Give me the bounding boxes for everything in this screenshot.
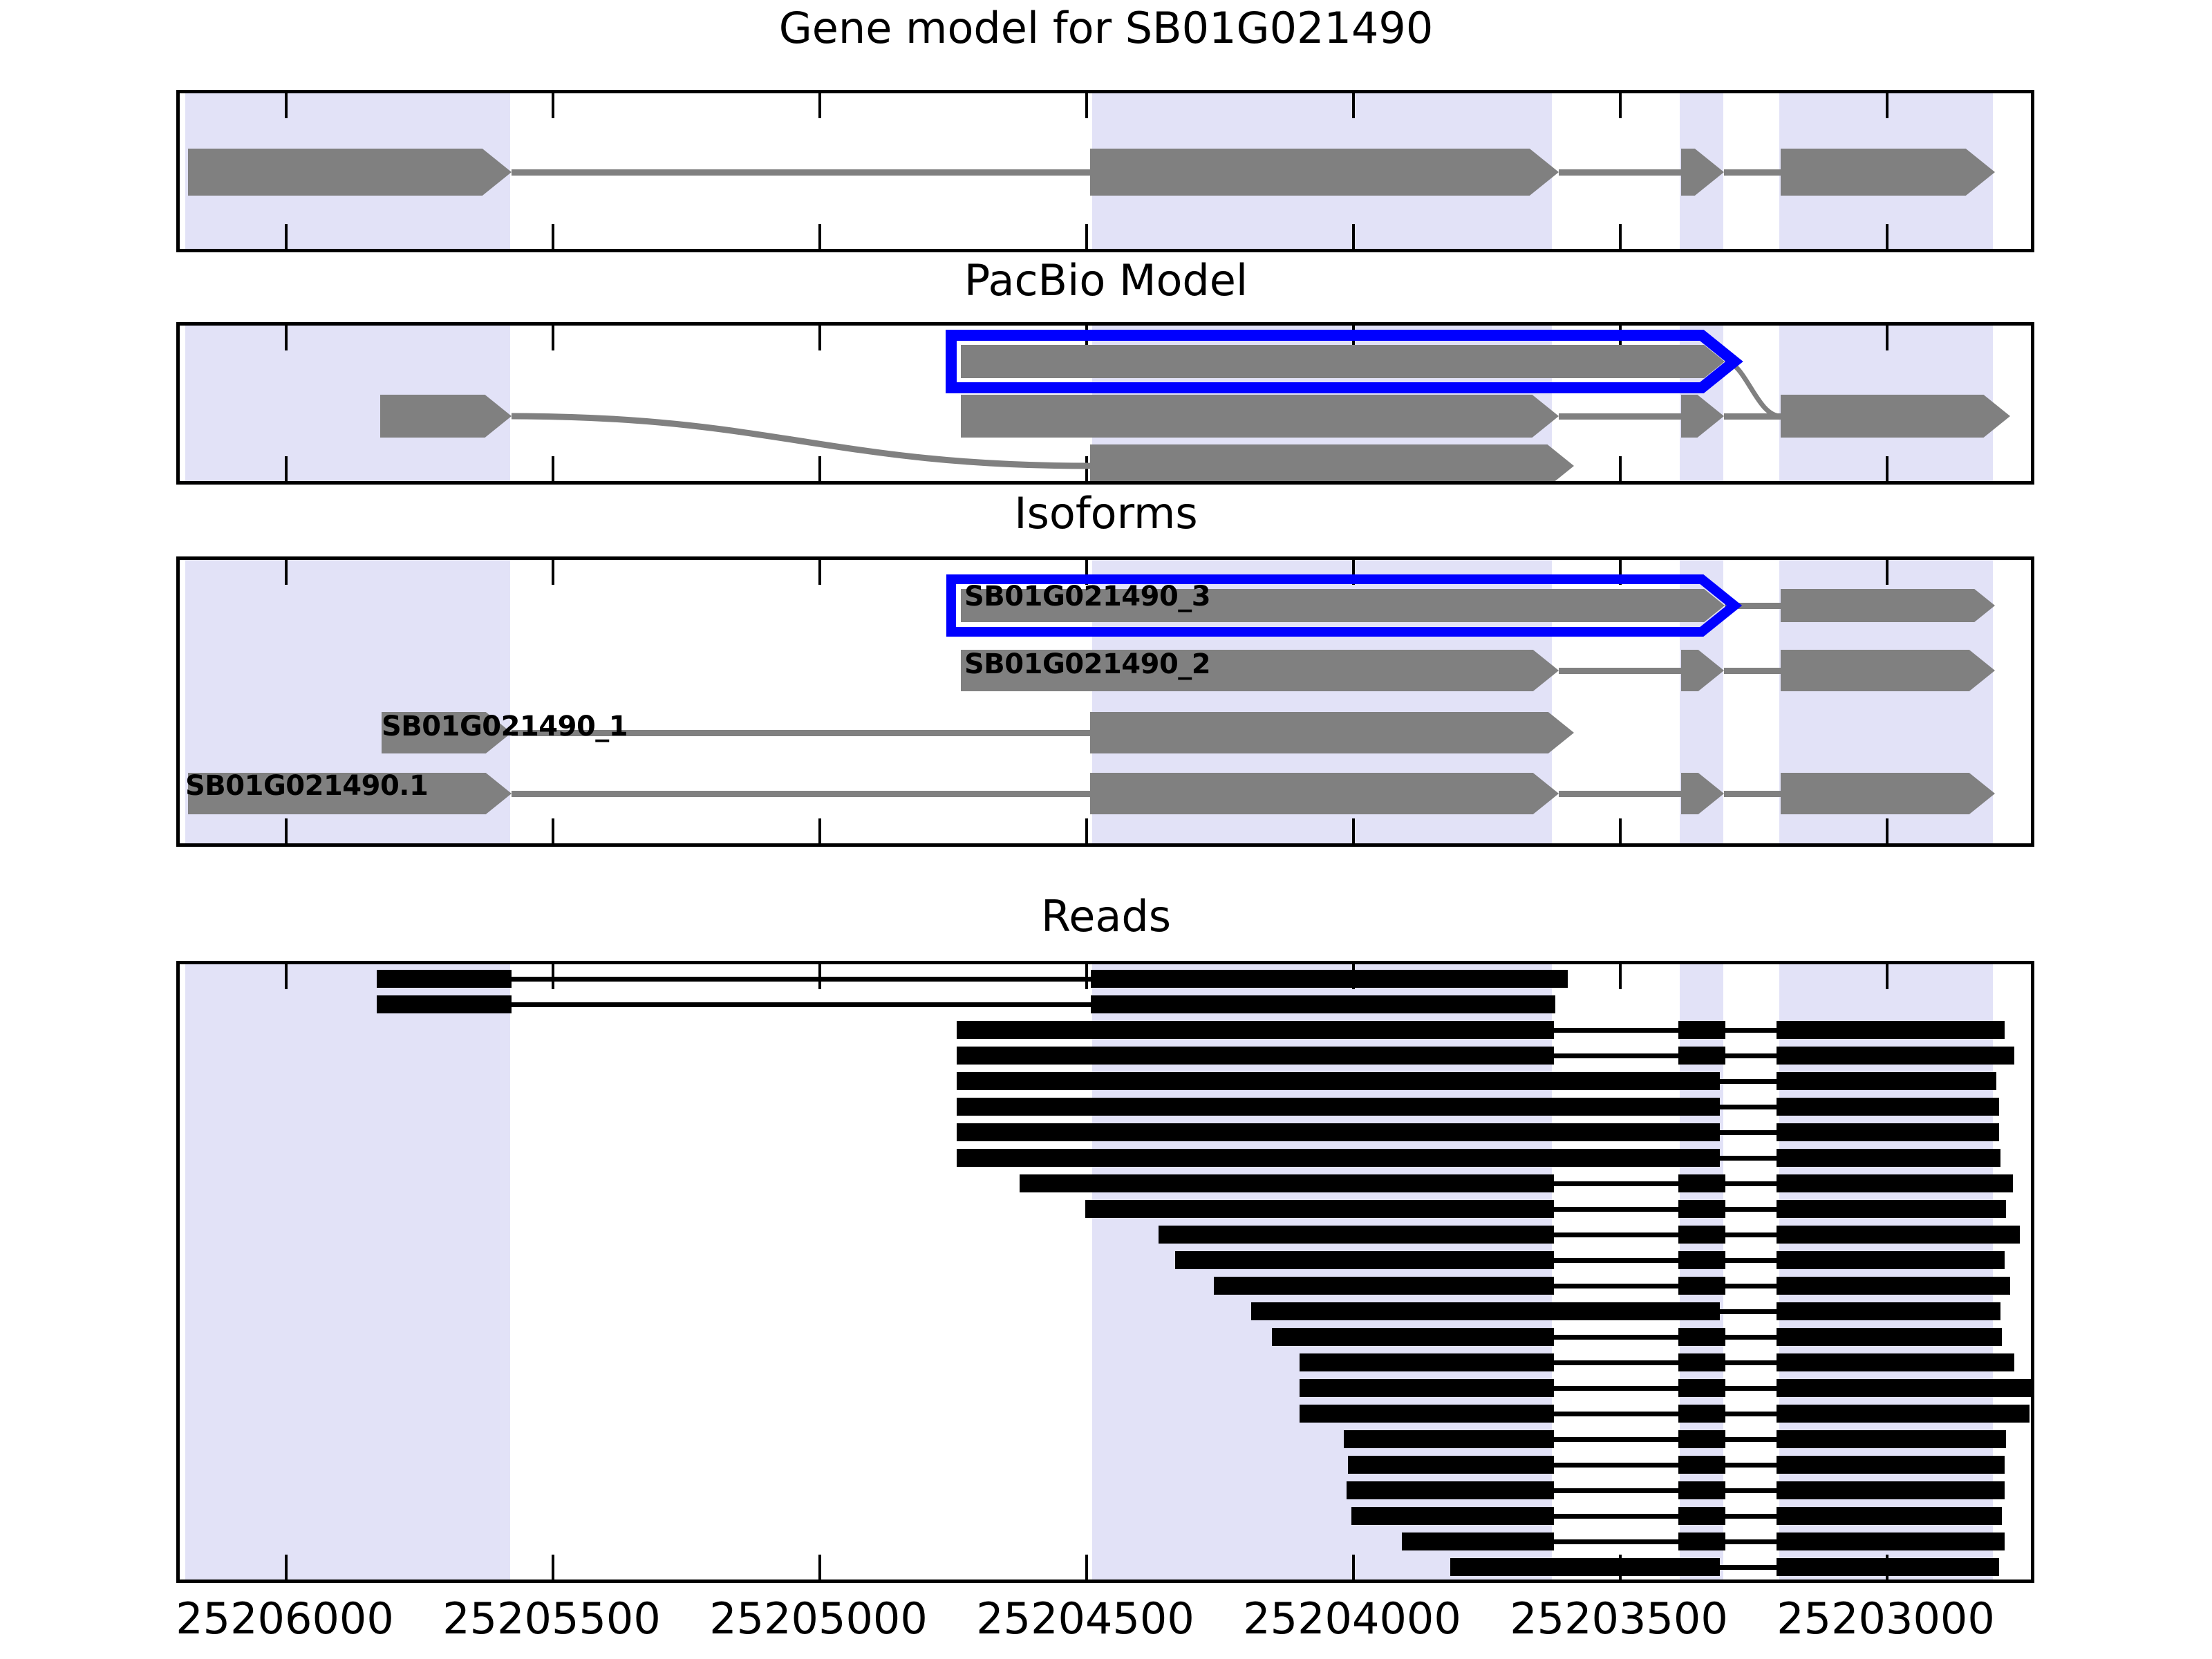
read-gap-6-0 bbox=[1720, 1130, 1777, 1135]
pacbio-exon-2-0 bbox=[1090, 444, 1574, 485]
plot-area-reads bbox=[180, 964, 2031, 1580]
read-block-8-0 bbox=[1020, 1174, 1554, 1192]
axis-tick-top-0 bbox=[285, 964, 288, 989]
read-gap-15-0 bbox=[1554, 1360, 1678, 1365]
axis-tick-bottom-0 bbox=[285, 818, 288, 843]
axis-tick-bottom-3 bbox=[1085, 818, 1088, 843]
read-block-3-2 bbox=[1777, 1047, 2014, 1065]
panel-title-pacbio-model: PacBio Model bbox=[0, 259, 2212, 302]
read-block-0-1 bbox=[1091, 970, 1568, 988]
axis-tick-bottom-1 bbox=[552, 1555, 554, 1580]
read-gap-19-1 bbox=[1725, 1463, 1777, 1468]
axis-tick-bottom-0 bbox=[285, 1555, 288, 1580]
isoform-exon-1-2 bbox=[1781, 650, 1995, 691]
read-block-16-2 bbox=[1777, 1379, 2031, 1397]
axis-tick-top-5 bbox=[1619, 93, 1622, 118]
read-gap-14-0 bbox=[1554, 1335, 1678, 1340]
pacbio-exon-1-2 bbox=[1681, 395, 1724, 438]
read-gap-11-0 bbox=[1554, 1258, 1678, 1263]
read-gap-21-0 bbox=[1554, 1514, 1678, 1519]
read-block-21-1 bbox=[1678, 1507, 1725, 1525]
read-block-14-0 bbox=[1272, 1328, 1554, 1346]
read-block-4-0 bbox=[957, 1072, 1720, 1090]
isoform-exon-3-1 bbox=[1090, 773, 1559, 814]
read-gap-18-0 bbox=[1554, 1437, 1678, 1442]
axis-tick-bottom-0 bbox=[285, 224, 288, 249]
read-gap-11-1 bbox=[1725, 1258, 1777, 1263]
read-gap-20-0 bbox=[1554, 1488, 1678, 1493]
axis-tick-top-6 bbox=[1886, 560, 1888, 585]
read-gap-13-0 bbox=[1720, 1309, 1777, 1314]
isoform-intron-3-0 bbox=[512, 791, 1090, 797]
read-block-17-2 bbox=[1777, 1405, 2030, 1423]
plot-area-gene-model bbox=[180, 93, 2031, 249]
axis-tick-top-5 bbox=[1619, 964, 1622, 989]
axis-tick-bottom-6 bbox=[1886, 818, 1888, 843]
read-block-3-1 bbox=[1678, 1047, 1725, 1065]
read-block-16-1 bbox=[1678, 1379, 1725, 1397]
x-axis-tick-label-1: 25205500 bbox=[442, 1593, 661, 1644]
read-block-21-2 bbox=[1777, 1507, 2002, 1525]
x-axis-tick-label-4: 25204000 bbox=[1243, 1593, 1461, 1644]
axis-tick-top-3 bbox=[1085, 93, 1088, 118]
axis-tick-bottom-2 bbox=[818, 1555, 821, 1580]
read-block-12-0 bbox=[1214, 1277, 1554, 1295]
read-gap-23-0 bbox=[1720, 1565, 1777, 1570]
gene-model-exon-1 bbox=[1090, 149, 1559, 196]
read-block-18-1 bbox=[1678, 1430, 1725, 1448]
read-gap-1-0 bbox=[512, 1002, 1091, 1007]
read-block-18-2 bbox=[1777, 1430, 2006, 1448]
isoform-exon-0-1 bbox=[1781, 589, 1995, 622]
read-block-2-0 bbox=[957, 1021, 1554, 1039]
read-gap-17-1 bbox=[1725, 1412, 1777, 1416]
read-block-10-2 bbox=[1777, 1226, 2020, 1244]
isoform-exon-3-2 bbox=[1681, 773, 1724, 814]
read-block-9-2 bbox=[1777, 1200, 2006, 1218]
axis-tick-top-4 bbox=[1352, 93, 1355, 118]
read-block-21-0 bbox=[1351, 1507, 1554, 1525]
axis-tick-bottom-1 bbox=[552, 818, 554, 843]
read-gap-22-0 bbox=[1554, 1539, 1678, 1544]
axis-tick-top-0 bbox=[285, 560, 288, 585]
read-block-8-1 bbox=[1678, 1174, 1725, 1192]
pacbio-intron-1-1 bbox=[1724, 413, 1781, 420]
read-block-22-2 bbox=[1777, 1533, 2005, 1550]
axis-tick-bottom-2 bbox=[818, 224, 821, 249]
pacbio-intron-1-0 bbox=[1559, 413, 1681, 420]
read-block-2-2 bbox=[1777, 1021, 2005, 1039]
read-block-4-1 bbox=[1777, 1072, 1996, 1090]
axis-tick-top-0 bbox=[285, 93, 288, 118]
read-block-23-0 bbox=[1450, 1558, 1720, 1576]
panel-gene-model bbox=[176, 90, 2034, 252]
read-gap-17-0 bbox=[1554, 1412, 1678, 1416]
read-gap-3-1 bbox=[1725, 1053, 1777, 1058]
read-block-9-0 bbox=[1085, 1200, 1554, 1218]
axis-tick-bottom-1 bbox=[552, 224, 554, 249]
read-block-13-1 bbox=[1777, 1302, 2000, 1320]
isoform-exon-1-1 bbox=[1681, 650, 1724, 691]
axis-tick-top-6 bbox=[1886, 964, 1888, 989]
read-block-7-0 bbox=[957, 1149, 1720, 1167]
panel-reads bbox=[176, 961, 2034, 1583]
read-block-14-2 bbox=[1777, 1328, 2002, 1346]
plot-area-pacbio-model bbox=[180, 326, 2031, 481]
read-block-20-2 bbox=[1777, 1481, 2005, 1499]
read-block-19-0 bbox=[1348, 1456, 1554, 1474]
axis-tick-top-1 bbox=[552, 93, 554, 118]
x-axis-tick-label-0: 25206000 bbox=[176, 1593, 394, 1644]
read-block-23-1 bbox=[1777, 1558, 1999, 1576]
read-block-14-1 bbox=[1678, 1328, 1725, 1346]
read-block-1-0 bbox=[377, 995, 512, 1013]
read-gap-2-1 bbox=[1725, 1028, 1777, 1033]
read-gap-16-1 bbox=[1725, 1386, 1777, 1391]
read-block-15-1 bbox=[1678, 1353, 1725, 1371]
read-gap-9-0 bbox=[1554, 1207, 1678, 1212]
read-block-17-1 bbox=[1678, 1405, 1725, 1423]
axis-tick-bottom-4 bbox=[1352, 224, 1355, 249]
axis-tick-bottom-6 bbox=[1886, 224, 1888, 249]
read-block-22-0 bbox=[1402, 1533, 1554, 1550]
read-block-20-1 bbox=[1678, 1481, 1725, 1499]
read-block-17-0 bbox=[1300, 1405, 1554, 1423]
read-block-11-2 bbox=[1777, 1251, 2005, 1269]
read-block-10-1 bbox=[1678, 1226, 1725, 1244]
read-gap-4-0 bbox=[1720, 1079, 1777, 1084]
panel-title-gene-model: Gene model for SB01G021490 bbox=[0, 7, 2212, 50]
isoform-label-1: SB01G021490_2 bbox=[964, 648, 1210, 680]
read-gap-19-0 bbox=[1554, 1463, 1678, 1468]
axis-tick-bottom-3 bbox=[1085, 1555, 1088, 1580]
gene-model-intron-2 bbox=[1724, 169, 1781, 176]
read-block-9-1 bbox=[1678, 1200, 1725, 1218]
read-gap-12-0 bbox=[1554, 1284, 1678, 1288]
isoform-label-3: SB01G021490.1 bbox=[185, 770, 428, 802]
read-gap-9-1 bbox=[1725, 1207, 1777, 1212]
axis-tick-bottom-2 bbox=[818, 818, 821, 843]
read-block-3-0 bbox=[957, 1047, 1554, 1065]
read-block-12-1 bbox=[1678, 1277, 1725, 1295]
isoform-label-2: SB01G021490_1 bbox=[382, 711, 628, 742]
pacbio-exon-0-0 bbox=[961, 345, 1725, 378]
axis-tick-bottom-5 bbox=[1619, 818, 1622, 843]
read-block-20-0 bbox=[1347, 1481, 1554, 1499]
read-block-6-0 bbox=[957, 1123, 1720, 1141]
isoform-intron-1-1 bbox=[1724, 668, 1781, 674]
read-block-6-1 bbox=[1777, 1123, 1999, 1141]
read-gap-8-1 bbox=[1725, 1181, 1777, 1186]
read-block-0-0 bbox=[377, 970, 512, 988]
read-gap-0-0 bbox=[512, 977, 1091, 982]
panel-isoforms: SB01G021490_3SB01G021490_2SB01G021490_1S… bbox=[176, 556, 2034, 847]
read-block-11-0 bbox=[1175, 1251, 1554, 1269]
read-block-15-2 bbox=[1777, 1353, 2014, 1371]
gene-model-exon-3 bbox=[1781, 149, 1995, 196]
axis-tick-bottom-4 bbox=[1352, 1555, 1355, 1580]
read-block-15-0 bbox=[1300, 1353, 1554, 1371]
read-gap-22-1 bbox=[1725, 1539, 1777, 1544]
genome-browser-figure: Gene model for SB01G021490PacBio ModelIs… bbox=[0, 0, 2212, 1659]
read-gap-5-0 bbox=[1720, 1105, 1777, 1109]
read-gap-12-1 bbox=[1725, 1284, 1777, 1288]
read-block-13-0 bbox=[1251, 1302, 1720, 1320]
read-block-12-2 bbox=[1777, 1277, 2010, 1295]
read-gap-20-1 bbox=[1725, 1488, 1777, 1493]
panel-title-reads: Reads bbox=[0, 895, 2212, 938]
read-block-19-2 bbox=[1777, 1456, 2005, 1474]
panel-title-isoforms: Isoforms bbox=[0, 492, 2212, 535]
pacbio-exon-1-0 bbox=[380, 395, 512, 438]
axis-tick-top-6 bbox=[1886, 93, 1888, 118]
isoform-intron-1-0 bbox=[1559, 668, 1681, 674]
axis-tick-bottom-3 bbox=[1085, 224, 1088, 249]
highlight-band-exon-region-1 bbox=[185, 964, 510, 1580]
isoform-intron-3-2 bbox=[1724, 791, 1781, 797]
read-gap-3-0 bbox=[1554, 1053, 1678, 1058]
read-gap-15-1 bbox=[1725, 1360, 1777, 1365]
read-block-22-1 bbox=[1678, 1533, 1725, 1550]
gene-model-exon-2 bbox=[1681, 149, 1724, 196]
read-block-2-1 bbox=[1678, 1021, 1725, 1039]
read-gap-21-1 bbox=[1725, 1514, 1777, 1519]
read-block-5-0 bbox=[957, 1098, 1720, 1116]
isoform-intron-3-1 bbox=[1559, 791, 1681, 797]
gene-model-intron-0 bbox=[512, 169, 1090, 176]
read-gap-8-0 bbox=[1554, 1181, 1678, 1186]
x-axis-tick-label-3: 25204500 bbox=[976, 1593, 1194, 1644]
read-gap-2-0 bbox=[1554, 1028, 1678, 1033]
plot-area-isoforms: SB01G021490_3SB01G021490_2SB01G021490_1S… bbox=[180, 560, 2031, 843]
read-gap-16-0 bbox=[1554, 1386, 1678, 1391]
axis-tick-top-2 bbox=[818, 93, 821, 118]
read-block-19-1 bbox=[1678, 1456, 1725, 1474]
gene-model-intron-1 bbox=[1559, 169, 1681, 176]
pacbio-exon-1-1 bbox=[961, 395, 1559, 438]
pacbio-exon-1-3 bbox=[1781, 395, 2010, 438]
read-block-8-2 bbox=[1777, 1174, 2013, 1192]
read-block-7-1 bbox=[1777, 1149, 2000, 1167]
axis-tick-bottom-5 bbox=[1619, 224, 1622, 249]
read-gap-7-0 bbox=[1720, 1156, 1777, 1161]
panel-pacbio-model bbox=[176, 322, 2034, 485]
read-gap-18-1 bbox=[1725, 1437, 1777, 1442]
isoform-label-0: SB01G021490_3 bbox=[964, 581, 1210, 612]
read-block-11-1 bbox=[1678, 1251, 1725, 1269]
axis-tick-top-1 bbox=[552, 560, 554, 585]
x-axis-tick-label-6: 25203000 bbox=[1777, 1593, 1995, 1644]
x-axis-tick-label-5: 25203500 bbox=[1510, 1593, 1728, 1644]
gene-model-exon-0 bbox=[188, 149, 512, 196]
isoform-exon-3-3 bbox=[1781, 773, 1995, 814]
read-block-16-0 bbox=[1300, 1379, 1554, 1397]
read-gap-14-1 bbox=[1725, 1335, 1777, 1340]
x-axis-tick-label-2: 25205000 bbox=[709, 1593, 928, 1644]
read-gap-10-0 bbox=[1554, 1232, 1678, 1237]
read-block-5-1 bbox=[1777, 1098, 1999, 1116]
axis-tick-top-2 bbox=[818, 560, 821, 585]
read-block-10-0 bbox=[1159, 1226, 1554, 1244]
isoform-exon-2-1 bbox=[1090, 712, 1574, 753]
axis-tick-bottom-4 bbox=[1352, 818, 1355, 843]
read-gap-10-1 bbox=[1725, 1232, 1777, 1237]
read-block-18-0 bbox=[1344, 1430, 1554, 1448]
read-block-1-1 bbox=[1091, 995, 1555, 1013]
